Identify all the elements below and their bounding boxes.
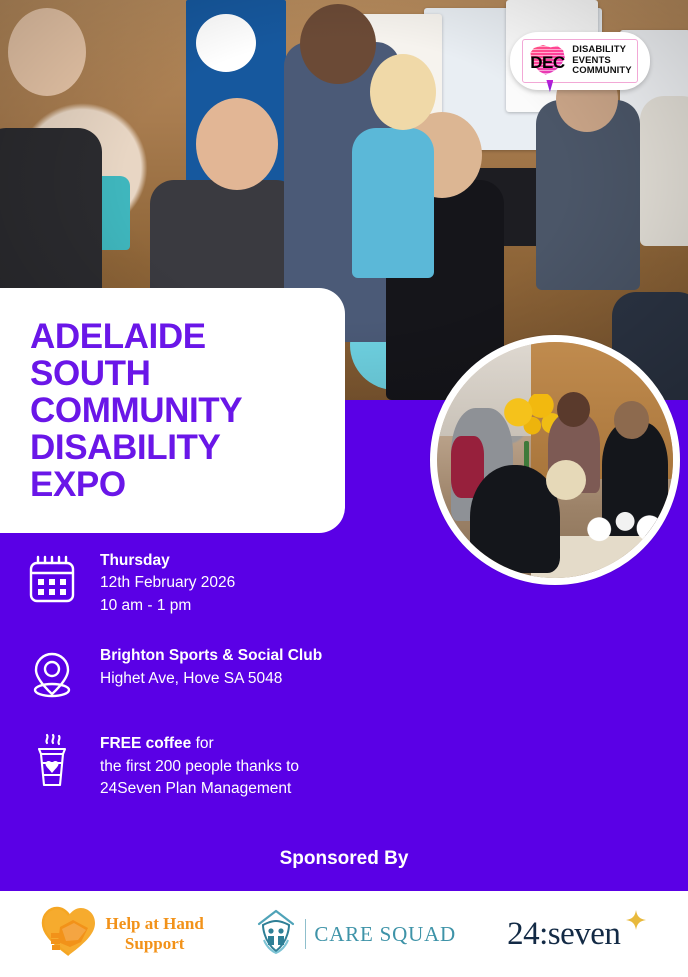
- location-pin-icon: [24, 643, 80, 705]
- sponsor-logos: Help at Hand Support CARE SQUAD 24:seven: [0, 891, 688, 977]
- venue-name: Brighton Sports & Social Club: [100, 645, 322, 667]
- sponsor-label-help-at-hand: Help at Hand Support: [106, 914, 204, 953]
- sponsor-label-care-squad: CARE SQUAD: [314, 922, 456, 947]
- coffee-heading-suffix: for: [191, 735, 213, 752]
- detail-text-date: Thursday 12th February 2026 10 am - 1 pm: [100, 548, 235, 617]
- sponsor-divider: [305, 919, 307, 949]
- page-title: ADELAIDE SOUTH COMMUNITY DISABILITY EXPO: [30, 318, 319, 503]
- handshake-heart-icon: [40, 905, 98, 964]
- detail-row-date: Thursday 12th February 2026 10 am - 1 pm: [24, 548, 464, 617]
- house-family-icon: [255, 907, 297, 962]
- title-line-2: SOUTH: [30, 354, 151, 393]
- coffee-heading: FREE coffee: [100, 735, 191, 752]
- sparkle-icon: [626, 910, 646, 935]
- title-line-3: COMMUNITY: [30, 391, 242, 430]
- venue-address: Highet Ave, Hove SA 5048: [100, 668, 322, 690]
- sponsor-help-at-hand-support[interactable]: Help at Hand Support: [40, 905, 204, 964]
- coffee-line-3: 24Seven Plan Management: [100, 778, 299, 800]
- sponsor-24seven[interactable]: 24:seven: [507, 916, 648, 953]
- hah-line-2: Support: [106, 934, 204, 954]
- coffee-line-2: the first 200 people thanks to: [100, 756, 299, 778]
- detail-row-coffee: FREE coffee for the first 200 people tha…: [24, 731, 464, 800]
- date-line-2: 12th February 2026: [100, 572, 235, 594]
- title-line-1: ADELAIDE: [30, 317, 206, 356]
- dec-logo: DEC DISABILITY EVENTS COMMUNITY: [510, 32, 650, 90]
- sponsor-label-24seven: 24:seven: [507, 916, 620, 953]
- dec-mark-text: DEC: [530, 53, 564, 73]
- dec-logo-name: DISABILITY EVENTS COMMUNITY: [572, 45, 631, 77]
- australia-map-icon: DEC: [526, 42, 568, 80]
- circle-photo: [430, 335, 680, 585]
- date-line-3: 10 am - 1 pm: [100, 595, 235, 617]
- coffee-cup-icon: [24, 731, 80, 793]
- event-details: Thursday 12th February 2026 10 am - 1 pm…: [24, 548, 464, 827]
- date-heading: Thursday: [100, 550, 235, 572]
- detail-text-location: Brighton Sports & Social Club Highet Ave…: [100, 643, 322, 690]
- detail-text-coffee: FREE coffee for the first 200 people tha…: [100, 731, 299, 800]
- event-poster: DEC DISABILITY EVENTS COMMUNITY ADE: [0, 0, 688, 977]
- dec-name-line-3: COMMUNITY: [572, 66, 631, 77]
- calendar-icon: [24, 548, 80, 610]
- title-line-4: DISABILITY: [30, 428, 220, 467]
- title-line-5: EXPO: [30, 465, 126, 504]
- title-card: ADELAIDE SOUTH COMMUNITY DISABILITY EXPO: [0, 288, 345, 533]
- sponsored-by-heading: Sponsored By: [0, 848, 688, 870]
- detail-row-location: Brighton Sports & Social Club Highet Ave…: [24, 643, 464, 705]
- hah-line-1: Help at Hand: [106, 914, 204, 934]
- sponsor-care-squad[interactable]: CARE SQUAD: [255, 907, 456, 962]
